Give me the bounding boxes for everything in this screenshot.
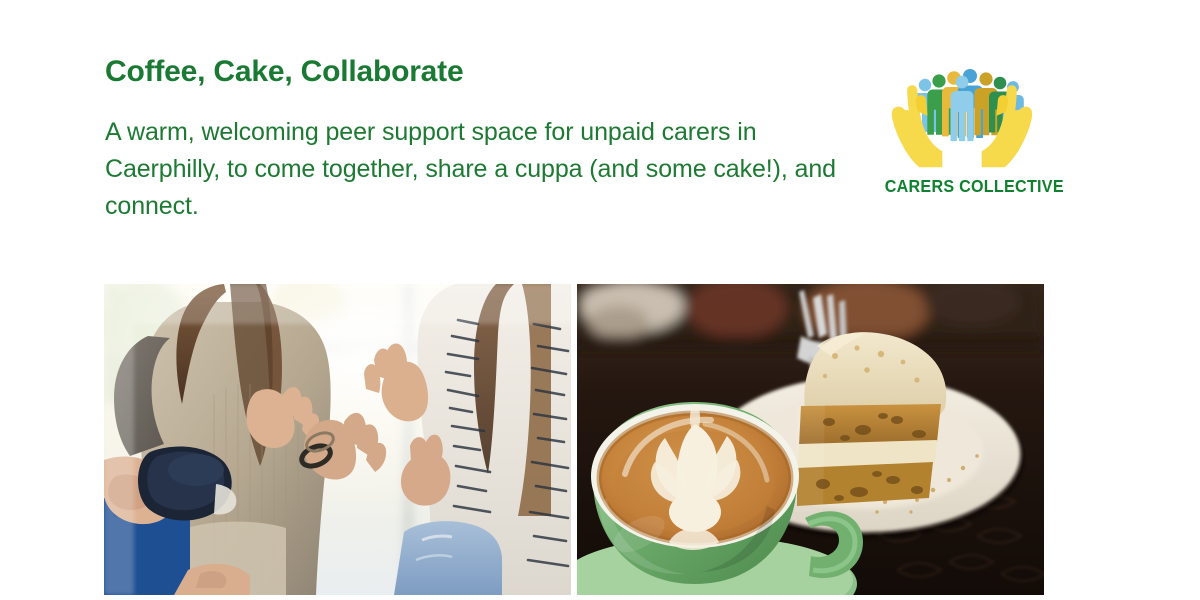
logo-mark (878, 62, 1046, 174)
header-block: Coffee, Cake, Collaborate A warm, welcom… (105, 55, 865, 225)
slide-canvas: Coffee, Cake, Collaborate A warm, welcom… (0, 0, 1200, 600)
page-title: Coffee, Cake, Collaborate (105, 55, 865, 88)
photo-strip (104, 284, 1044, 595)
photo-coffee-and-carrot-cake (577, 284, 1044, 595)
photo-peer-support-conversation (104, 284, 571, 595)
event-description: A warm, welcoming peer support space for… (105, 114, 850, 225)
carers-collective-logo: CARERS COLLECTIVE (878, 62, 1046, 207)
logo-wordmark: CARERS COLLECTIVE (885, 176, 1040, 197)
